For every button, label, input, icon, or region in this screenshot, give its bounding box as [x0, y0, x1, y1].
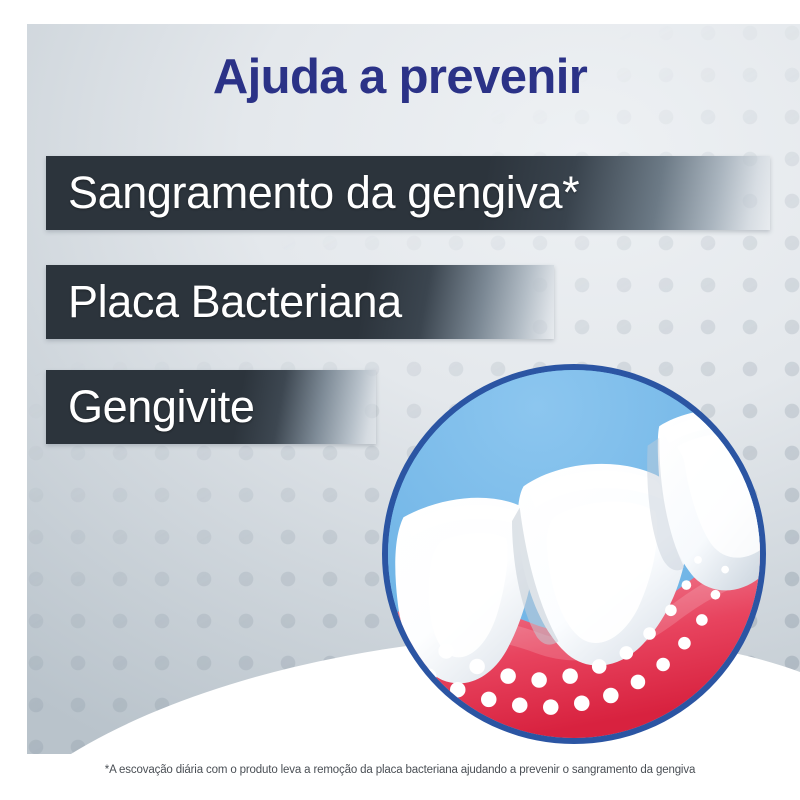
teeth-and-gums-illustration	[388, 370, 760, 738]
illustration-circle-border	[382, 364, 766, 744]
illustration-circle	[382, 364, 766, 744]
page-title: Ajuda a prevenir	[0, 52, 800, 103]
claim-label: Sangramento da gengiva*	[68, 167, 579, 219]
claim-bar-gengivite: Gengivite	[46, 370, 376, 444]
footnote-text: *A escovação diária com o produto leva a…	[0, 764, 800, 776]
claim-bar-sangramento: Sangramento da gengiva*	[46, 156, 770, 230]
promo-panel: Ajuda a prevenir Sangramento da gengiva*…	[0, 0, 800, 800]
claim-label: Placa Bacteriana	[68, 276, 402, 328]
claim-label: Gengivite	[68, 381, 255, 433]
claim-bar-placa: Placa Bacteriana	[46, 265, 554, 339]
background-white-footer-band	[0, 754, 800, 800]
